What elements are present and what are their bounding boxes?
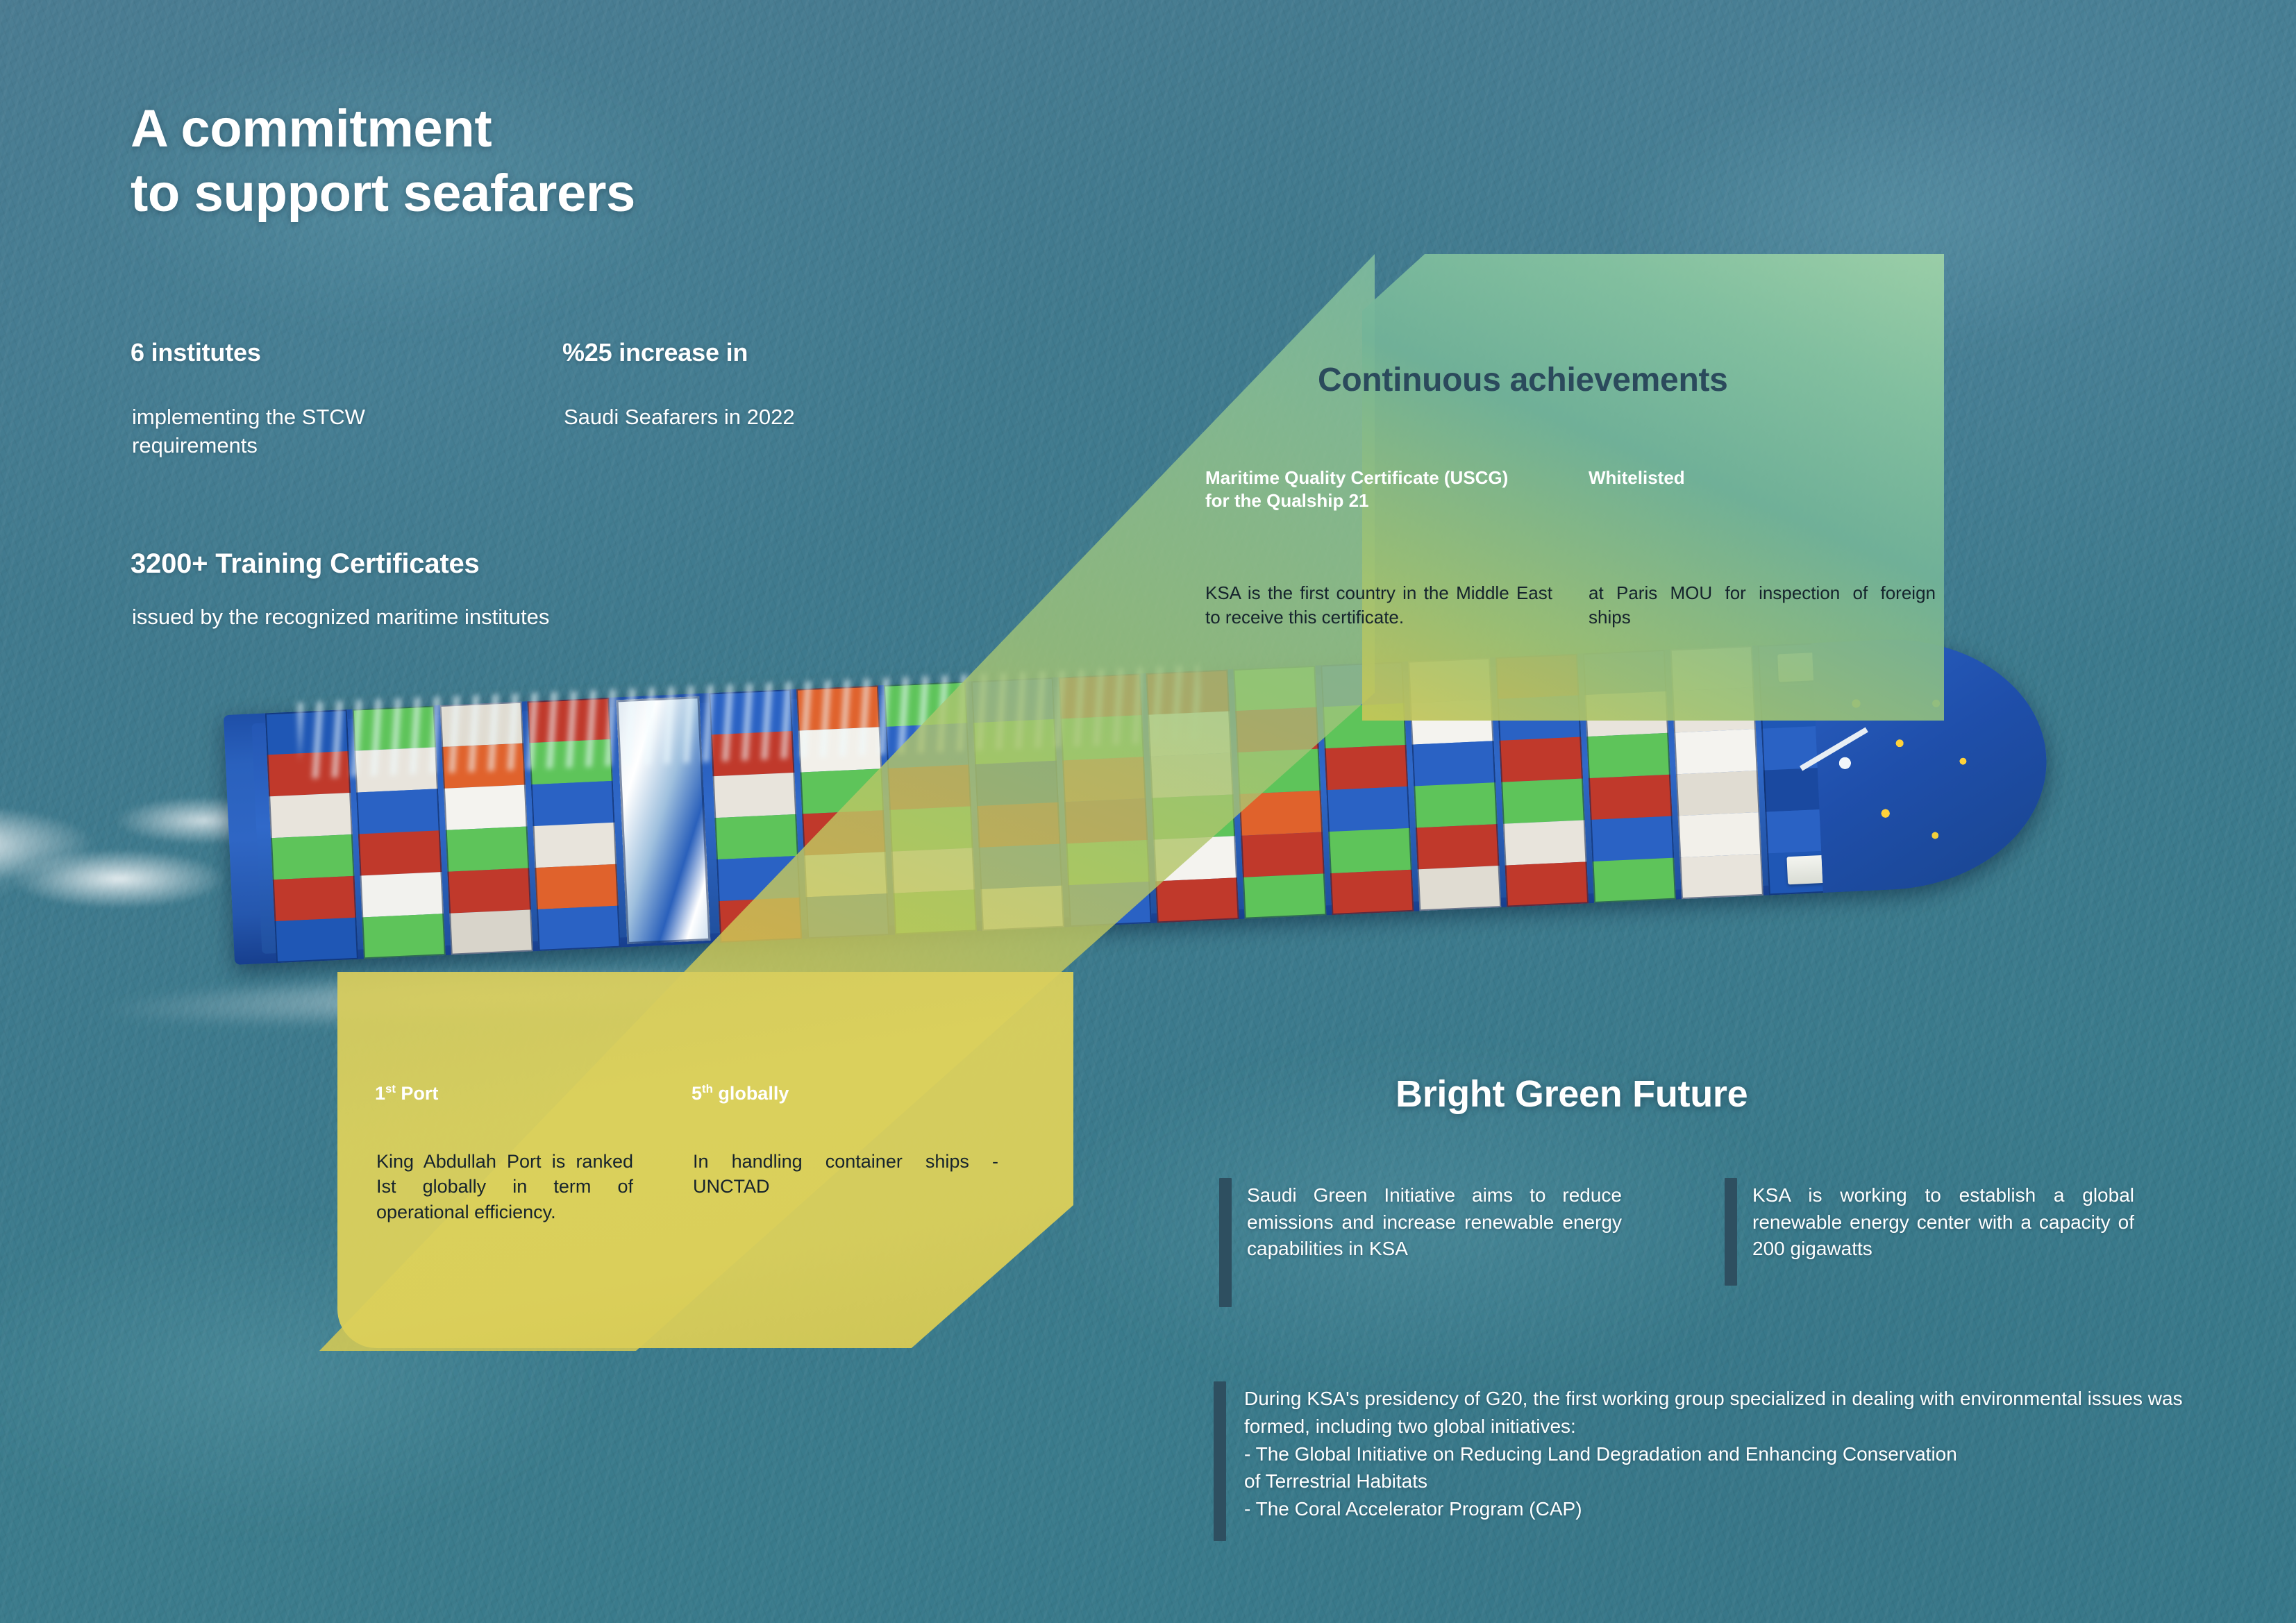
port-rank-fifth: 5th globally (692, 1083, 789, 1104)
page-title-line2: to support seafarers (131, 162, 635, 226)
achievements-title: Continuous achievements (1318, 361, 1728, 399)
achievement-headline-whitelisted: Whitelisted (1589, 466, 1880, 489)
port-rank-label: Port (396, 1083, 439, 1104)
port-rank-suffix: st (385, 1082, 396, 1095)
accent-bar (1219, 1178, 1232, 1307)
accent-bar (1725, 1178, 1737, 1286)
green-future-item-sgi: Saudi Green Initiative aims to reduce em… (1247, 1182, 1622, 1263)
green-future-g20-note: During KSA's presidency of G20, the firs… (1244, 1385, 2223, 1523)
page-title: A commitment to support seafarers (131, 97, 635, 226)
accent-bar (1214, 1381, 1226, 1541)
stat-headline-institutes: 6 institutes (131, 338, 261, 367)
achievement-headline-uscg: Maritime Quality Certificate (USCG) for … (1205, 466, 1532, 513)
stat-body-certificates: issued by the recognized maritime instit… (132, 603, 562, 631)
port-rank-number: 1 (375, 1083, 385, 1104)
green-future-item-energy: KSA is working to establish a global ren… (1752, 1182, 2134, 1263)
stat-body-increase: Saudi Seafarers in 2022 (564, 403, 925, 431)
green-future-title: Bright Green Future (1396, 1073, 1748, 1116)
port-rank-label: globally (713, 1083, 789, 1104)
port-rank-first: 1st Port (375, 1083, 438, 1104)
achievement-body-uscg: KSA is the first country in the Middle E… (1205, 581, 1552, 630)
stat-headline-certificates: 3200+ Training Certificates (131, 548, 480, 580)
stat-headline-increase: %25 increase in (562, 338, 748, 367)
port-body-container-ships: In handling container ships - UNCTAD (693, 1149, 998, 1200)
page-title-line1: A commitment (131, 97, 635, 162)
port-rank-suffix: th (702, 1082, 713, 1095)
achievement-body-whitelisted: at Paris MOU for inspection of foreign s… (1589, 581, 1936, 630)
stat-body-institutes: implementing the STCW requirements (132, 403, 479, 460)
port-rank-number: 5 (692, 1083, 702, 1104)
port-body-king-abdullah: King Abdullah Port is ranked Ist globall… (376, 1149, 633, 1225)
